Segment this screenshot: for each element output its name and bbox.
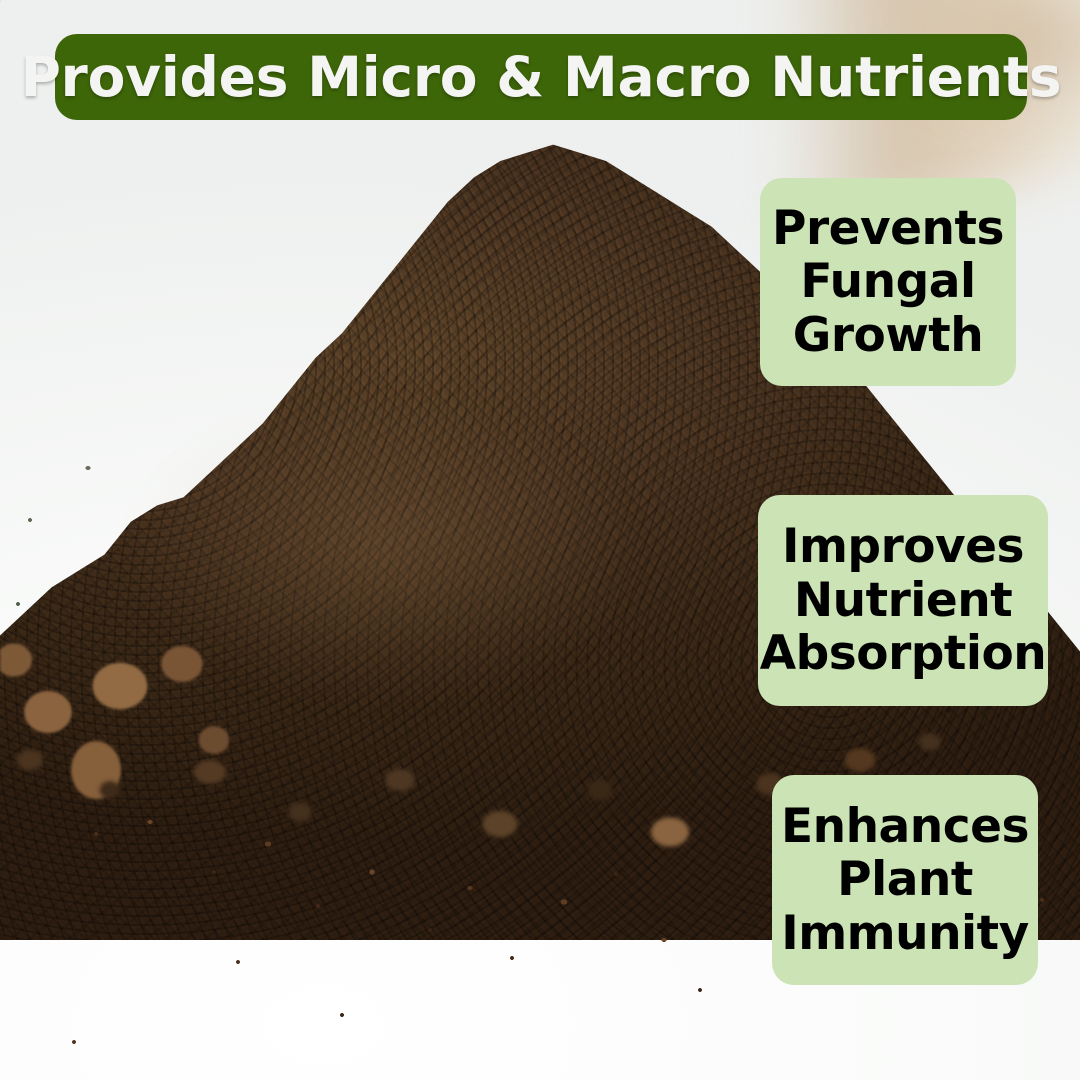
benefit-pill-enhances-plant-immunity: Enhances Plant Immunity <box>772 775 1038 985</box>
benefit-pill-improves-nutrient-absorption: Improves Nutrient Absorption <box>758 495 1048 706</box>
benefit-label: Improves Nutrient Absorption <box>760 520 1046 681</box>
benefit-label: Prevents Fungal Growth <box>772 202 1004 363</box>
benefit-label: Enhances Plant Immunity <box>781 800 1029 961</box>
headline-banner: Provides Micro & Macro Nutrients <box>55 34 1027 120</box>
promotional-poster: Provides Micro & Macro Nutrients Prevent… <box>0 0 1080 1080</box>
headline-text: Provides Micro & Macro Nutrients <box>21 50 1062 105</box>
benefit-pill-prevents-fungal-growth: Prevents Fungal Growth <box>760 178 1016 386</box>
